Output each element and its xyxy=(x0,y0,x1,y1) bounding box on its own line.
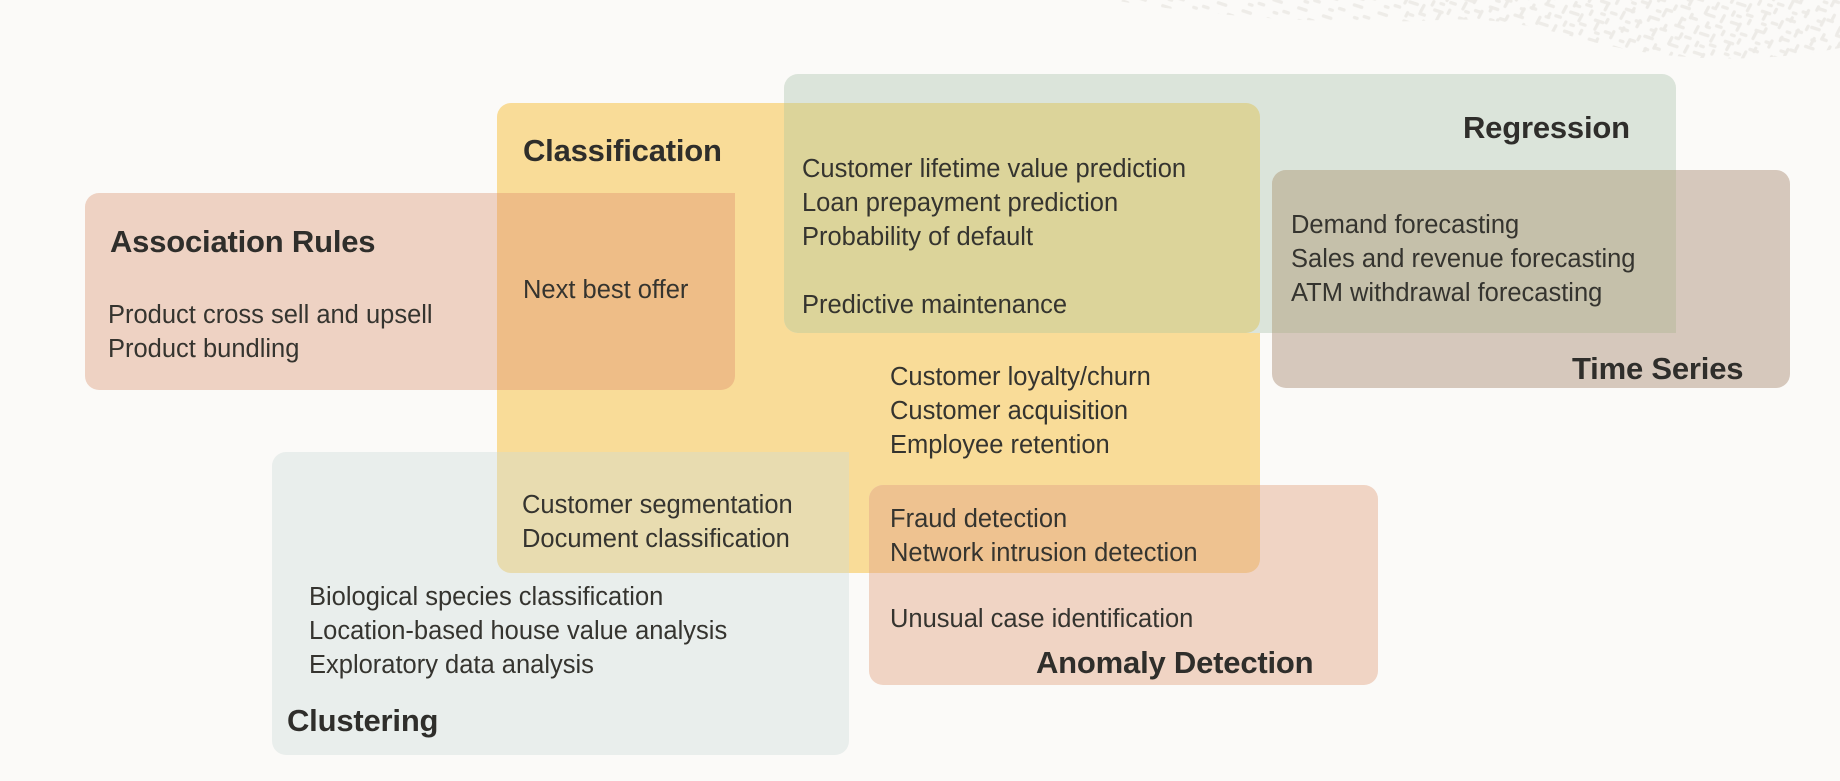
items-classification-clustering-intersection: Customer segmentation Document classific… xyxy=(522,488,793,556)
items-association-classification-intersection: Next best offer xyxy=(523,273,688,307)
items-classification: Customer loyalty/churn Customer acquisit… xyxy=(890,360,1151,462)
label-association-rules: Association Rules xyxy=(110,224,375,260)
items-time-series: Demand forecasting Sales and revenue for… xyxy=(1291,208,1635,310)
items-association-rules: Product cross sell and upsell Product bu… xyxy=(108,298,433,366)
label-regression: Regression xyxy=(1463,110,1630,146)
label-classification: Classification xyxy=(523,133,722,169)
items-classification-regression-intersection: Customer lifetime value prediction Loan … xyxy=(802,152,1186,322)
items-clustering: Biological species classification Locati… xyxy=(309,580,727,682)
decorative-texture xyxy=(1000,0,1840,70)
label-anomaly-detection: Anomaly Detection xyxy=(1036,645,1313,681)
items-anomaly-detection: Unusual case identification xyxy=(890,602,1193,636)
label-clustering: Clustering xyxy=(287,703,438,739)
label-time-series: Time Series xyxy=(1572,351,1743,387)
diagram-canvas: Association Rules Product cross sell and… xyxy=(0,0,1840,781)
items-classification-anomaly-intersection: Fraud detection Network intrusion detect… xyxy=(890,502,1198,570)
